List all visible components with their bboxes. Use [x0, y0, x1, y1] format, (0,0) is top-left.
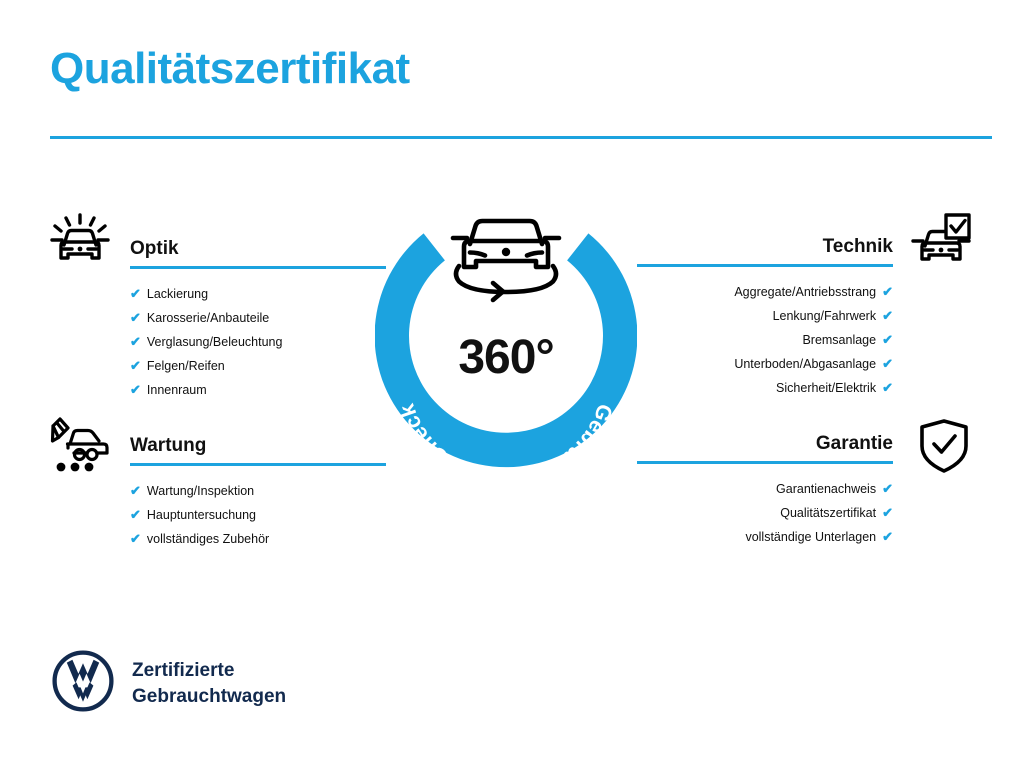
check-icon: ✔	[882, 304, 893, 328]
check-icon: ✔	[130, 354, 141, 378]
section-garantie: Garantie Garantienachweis✔ Qualitätszert…	[637, 433, 893, 549]
list-item-label: Lackierung	[147, 282, 208, 306]
page-title: Qualitätszertifikat	[50, 45, 410, 93]
check-icon: ✔	[882, 328, 893, 352]
section-divider-optik	[130, 266, 386, 269]
section-heading-optik: Optik	[130, 238, 386, 260]
list-item-label: vollständige Unterlagen	[745, 525, 876, 549]
list-item: Unterboden/Abgasanlage✔	[637, 352, 893, 376]
section-divider-wartung	[130, 463, 386, 466]
list-item: Aggregate/Antriebsstrang✔	[637, 280, 893, 304]
list-item: Qualitätszertifikat✔	[637, 501, 893, 525]
list-item-label: Innenraum	[147, 378, 207, 402]
check-icon: ✔	[130, 503, 141, 527]
list-item-label: Felgen/Reifen	[147, 354, 225, 378]
list-item-label: vollständiges Zubehör	[147, 527, 269, 551]
vw-lockup-line1: Zertifizierte	[132, 658, 286, 684]
car-polish-icon	[48, 212, 112, 276]
shield-check-icon	[912, 414, 976, 478]
section-heading-wartung: Wartung	[130, 435, 386, 457]
check-icon: ✔	[130, 282, 141, 306]
list-item-label: Bremsanlage	[802, 328, 876, 352]
car-service-pen-icon	[48, 414, 112, 478]
list-item: ✔Hauptuntersuchung	[130, 503, 386, 527]
check-icon: ✔	[130, 479, 141, 503]
check-icon: ✔	[882, 501, 893, 525]
list-item-label: Wartung/Inspektion	[147, 479, 254, 503]
section-divider-garantie	[637, 461, 893, 464]
badge-center-value: 360°	[375, 330, 637, 385]
section-technik: Technik Aggregate/Antriebsstrang✔ Lenkun…	[637, 236, 893, 400]
check-icon: ✔	[130, 378, 141, 402]
section-optik: Optik ✔Lackierung ✔Karosserie/Anbauteile…	[130, 238, 386, 402]
list-item: ✔vollständiges Zubehör	[130, 527, 386, 551]
list-item-label: Aggregate/Antriebsstrang	[734, 280, 876, 304]
list-item-label: Qualitätszertifikat	[780, 501, 876, 525]
vw-lockup-line2: Gebrauchtwagen	[132, 684, 286, 710]
list-item: ✔Innenraum	[130, 378, 386, 402]
list-item: vollständige Unterlagen✔	[637, 525, 893, 549]
list-item-label: Hauptuntersuchung	[147, 503, 256, 527]
section-wartung: Wartung ✔Wartung/Inspektion ✔Hauptunters…	[130, 435, 386, 551]
list-item: ✔Karosserie/Anbauteile	[130, 306, 386, 330]
check-icon: ✔	[130, 330, 141, 354]
check-icon: ✔	[882, 352, 893, 376]
car-rotate-icon	[453, 221, 559, 300]
car-checkbox-icon	[908, 212, 972, 276]
checklist-wartung: ✔Wartung/Inspektion ✔Hauptuntersuchung ✔…	[130, 479, 386, 551]
checklist-optik: ✔Lackierung ✔Karosserie/Anbauteile ✔Verg…	[130, 282, 386, 402]
list-item: Bremsanlage✔	[637, 328, 893, 352]
check-icon: ✔	[130, 306, 141, 330]
check-icon: ✔	[130, 527, 141, 551]
list-item-label: Karosserie/Anbauteile	[147, 306, 269, 330]
title-divider	[50, 136, 992, 139]
list-item-label: Sicherheit/Elektrik	[776, 376, 876, 400]
certificate-page: Qualitätszertifikat Optik ✔Lac	[0, 0, 1024, 768]
list-item: ✔Verglasung/Beleuchtung	[130, 330, 386, 354]
checklist-garantie: Garantienachweis✔ Qualitätszertifikat✔ v…	[637, 477, 893, 549]
vw-lockup-text: Zertifizierte Gebrauchtwagen	[132, 658, 286, 709]
section-heading-garantie: Garantie	[637, 433, 893, 455]
check-icon: ✔	[882, 280, 893, 304]
checklist-technik: Aggregate/Antriebsstrang✔ Lenkung/Fahrwe…	[637, 280, 893, 400]
list-item: Garantienachweis✔	[637, 477, 893, 501]
check-icon: ✔	[882, 477, 893, 501]
section-divider-technik	[637, 264, 893, 267]
list-item-label: Garantienachweis	[776, 477, 876, 501]
check-icon: ✔	[882, 376, 893, 400]
list-item-label: Unterboden/Abgasanlage	[734, 352, 876, 376]
list-item: ✔Wartung/Inspektion	[130, 479, 386, 503]
section-heading-technik: Technik	[637, 236, 893, 258]
check-icon: ✔	[882, 525, 893, 549]
list-item: Lenkung/Fahrwerk✔	[637, 304, 893, 328]
list-item: ✔Felgen/Reifen	[130, 354, 386, 378]
list-item-label: Verglasung/Beleuchtung	[147, 330, 283, 354]
vw-roundel-icon	[52, 650, 114, 712]
list-item: ✔Lackierung	[130, 282, 386, 306]
list-item: Sicherheit/Elektrik✔	[637, 376, 893, 400]
list-item-label: Lenkung/Fahrwerk	[773, 304, 877, 328]
badge-360-check: Gebrauchtwagen-Check 360°	[375, 200, 637, 490]
